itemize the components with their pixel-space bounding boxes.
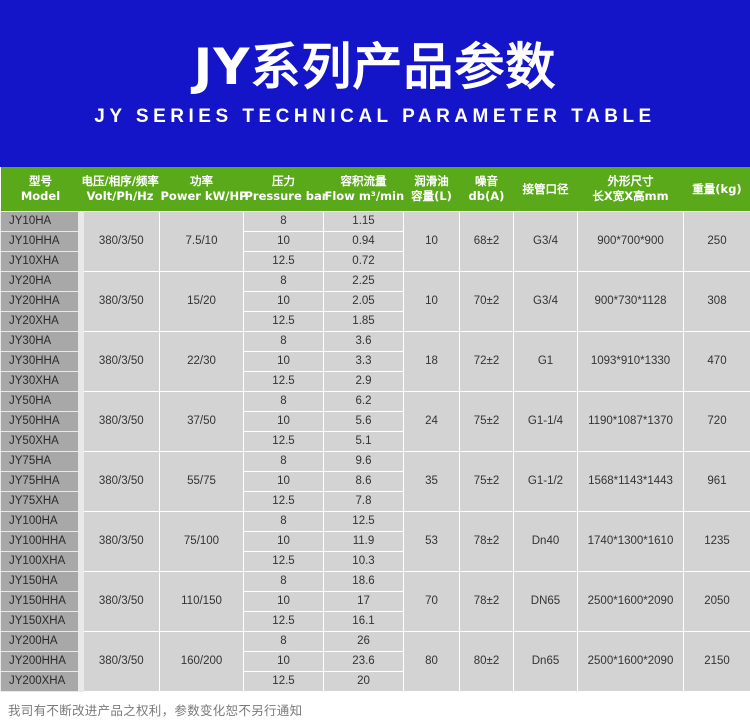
- column-header-power: 功率Power kW/HP: [160, 167, 244, 212]
- cell-model: JY50XHA: [1, 432, 81, 452]
- column-header-oil: 润滑油容量(L): [404, 167, 460, 212]
- cell-noise: 70±2: [460, 272, 514, 332]
- column-header-cn: 润滑油: [405, 174, 459, 189]
- cell-pressure: 10: [244, 532, 324, 552]
- cell-pressure: 8: [244, 272, 324, 292]
- cell-power: 110/150: [160, 572, 244, 632]
- cell-volt: 380/3/50: [81, 272, 160, 332]
- cell-noise: 75±2: [460, 392, 514, 452]
- column-header-en: db(A): [461, 189, 513, 204]
- cell-flow: 3.3: [324, 352, 404, 372]
- cell-dim: 2500*1600*2090: [578, 572, 684, 632]
- cell-noise: 68±2: [460, 212, 514, 272]
- cell-dim: 900*700*900: [578, 212, 684, 272]
- header-row: 型号Model电压/相序/频率Volt/Ph/Hz功率Power kW/HP压力…: [1, 167, 750, 212]
- cell-pressure: 12.5: [244, 552, 324, 572]
- table-row: JY10HA380/3/507.5/1081.151068±2G3/4900*7…: [1, 212, 750, 232]
- cell-pressure: 10: [244, 232, 324, 252]
- cell-pressure: 10: [244, 352, 324, 372]
- cell-pressure: 10: [244, 412, 324, 432]
- cell-flow: 2.05: [324, 292, 404, 312]
- cell-flow: 17: [324, 592, 404, 612]
- cell-noise: 75±2: [460, 452, 514, 512]
- cell-pipe: G1-1/4: [514, 392, 578, 452]
- cell-weight: 2150: [684, 632, 750, 692]
- cell-model: JY150HA: [1, 572, 81, 592]
- cell-flow: 16.1: [324, 612, 404, 632]
- cell-pressure: 10: [244, 292, 324, 312]
- column-header-cn: 型号: [2, 174, 80, 189]
- table-row: JY30HA380/3/5022/3083.61872±2G11093*910*…: [1, 332, 750, 352]
- cell-power: 15/20: [160, 272, 244, 332]
- cell-model: JY10XHA: [1, 252, 81, 272]
- column-header-en: Pressure bar: [245, 189, 323, 204]
- column-header-cn: 接管口径: [515, 182, 577, 197]
- cell-flow: 1.85: [324, 312, 404, 332]
- cell-flow: 1.15: [324, 212, 404, 232]
- cell-noise: 78±2: [460, 512, 514, 572]
- cell-oil: 10: [404, 212, 460, 272]
- column-header-en: 容量(L): [405, 189, 459, 204]
- cell-volt: 380/3/50: [81, 632, 160, 692]
- cell-weight: 308: [684, 272, 750, 332]
- table-row: JY100HA380/3/5075/100812.55378±2Dn401740…: [1, 512, 750, 532]
- column-header-en: Flow m³/min: [325, 189, 403, 204]
- cell-flow: 0.72: [324, 252, 404, 272]
- cell-pressure: 12.5: [244, 432, 324, 452]
- cell-model: JY100HHA: [1, 532, 81, 552]
- cell-pressure: 8: [244, 452, 324, 472]
- table-head: 型号Model电压/相序/频率Volt/Ph/Hz功率Power kW/HP压力…: [1, 167, 750, 212]
- table-row: JY20HA380/3/5015/2082.251070±2G3/4900*73…: [1, 272, 750, 292]
- cell-noise: 80±2: [460, 632, 514, 692]
- column-header-cn: 电压/相序/频率: [82, 174, 159, 189]
- cell-dim: 1190*1087*1370: [578, 392, 684, 452]
- table-row: JY150HA380/3/50110/150818.67078±2DN65250…: [1, 572, 750, 592]
- table-body: JY10HA380/3/507.5/1081.151068±2G3/4900*7…: [1, 212, 750, 692]
- cell-noise: 78±2: [460, 572, 514, 632]
- cell-volt: 380/3/50: [81, 332, 160, 392]
- cell-flow: 0.94: [324, 232, 404, 252]
- cell-oil: 18: [404, 332, 460, 392]
- cell-pressure: 12.5: [244, 612, 324, 632]
- table-row: JY75HA380/3/5055/7589.63575±2G1-1/21568*…: [1, 452, 750, 472]
- table-row: JY200HA380/3/50160/2008268080±2Dn652500*…: [1, 632, 750, 652]
- cell-pressure: 8: [244, 332, 324, 352]
- cell-flow: 5.6: [324, 412, 404, 432]
- cell-power: 75/100: [160, 512, 244, 572]
- cell-weight: 720: [684, 392, 750, 452]
- cell-flow: 10.3: [324, 552, 404, 572]
- cell-model: JY100XHA: [1, 552, 81, 572]
- page-root: JY系列产品参数 JY SERIES TECHNICAL PARAMETER T…: [0, 0, 750, 720]
- cell-flow: 3.6: [324, 332, 404, 352]
- banner-subtitle: JY SERIES TECHNICAL PARAMETER TABLE: [0, 106, 750, 128]
- cell-volt: 380/3/50: [81, 452, 160, 512]
- cell-model: JY150XHA: [1, 612, 81, 632]
- cell-power: 22/30: [160, 332, 244, 392]
- cell-oil: 70: [404, 572, 460, 632]
- cell-weight: 2050: [684, 572, 750, 632]
- cell-oil: 35: [404, 452, 460, 512]
- cell-pressure: 8: [244, 392, 324, 412]
- parameter-table: 型号Model电压/相序/频率Volt/Ph/Hz功率Power kW/HP压力…: [0, 167, 750, 692]
- cell-pipe: G1: [514, 332, 578, 392]
- cell-volt: 380/3/50: [81, 512, 160, 572]
- cell-flow: 18.6: [324, 572, 404, 592]
- cell-pressure: 8: [244, 212, 324, 232]
- cell-dim: 1568*1143*1443: [578, 452, 684, 512]
- parameter-table-container: 型号Model电压/相序/频率Volt/Ph/Hz功率Power kW/HP压力…: [0, 167, 750, 692]
- cell-model: JY20HA: [1, 272, 81, 292]
- cell-model: JY10HHA: [1, 232, 81, 252]
- cell-model: JY75HHA: [1, 472, 81, 492]
- cell-flow: 6.2: [324, 392, 404, 412]
- cell-volt: 380/3/50: [81, 572, 160, 632]
- cell-model: JY75HA: [1, 452, 81, 472]
- cell-pipe: DN65: [514, 572, 578, 632]
- cell-pressure: 12.5: [244, 372, 324, 392]
- cell-weight: 961: [684, 452, 750, 512]
- column-header-dim: 外形尺寸长X宽X高mm: [578, 167, 684, 212]
- column-header-cn: 重量(kg): [685, 182, 750, 197]
- cell-volt: 380/3/50: [81, 212, 160, 272]
- cell-dim: 1740*1300*1610: [578, 512, 684, 572]
- cell-pressure: 8: [244, 572, 324, 592]
- cell-model: JY50HHA: [1, 412, 81, 432]
- column-header-en: 长X宽X高mm: [579, 189, 683, 204]
- cell-weight: 250: [684, 212, 750, 272]
- cell-model: JY30XHA: [1, 372, 81, 392]
- cell-dim: 1093*910*1330: [578, 332, 684, 392]
- table-row: JY50HA380/3/5037/5086.22475±2G1-1/41190*…: [1, 392, 750, 412]
- cell-weight: 470: [684, 332, 750, 392]
- cell-flow: 5.1: [324, 432, 404, 452]
- cell-power: 7.5/10: [160, 212, 244, 272]
- cell-pressure: 8: [244, 512, 324, 532]
- cell-flow: 9.6: [324, 452, 404, 472]
- cell-flow: 20: [324, 672, 404, 692]
- cell-flow: 11.9: [324, 532, 404, 552]
- column-header-cn: 外形尺寸: [579, 174, 683, 189]
- cell-pressure: 10: [244, 472, 324, 492]
- cell-weight: 1235: [684, 512, 750, 572]
- cell-noise: 72±2: [460, 332, 514, 392]
- cell-flow: 8.6: [324, 472, 404, 492]
- footer-note: 我司有不断改进产品之权利，参数变化恕不另行通知: [0, 692, 750, 720]
- cell-model: JY150HHA: [1, 592, 81, 612]
- cell-pressure: 12.5: [244, 492, 324, 512]
- cell-model: JY30HA: [1, 332, 81, 352]
- cell-oil: 24: [404, 392, 460, 452]
- cell-model: JY20XHA: [1, 312, 81, 332]
- cell-power: 160/200: [160, 632, 244, 692]
- cell-model: JY50HA: [1, 392, 81, 412]
- cell-pipe: G1-1/2: [514, 452, 578, 512]
- cell-model: JY100HA: [1, 512, 81, 532]
- column-header-press: 压力Pressure bar: [244, 167, 324, 212]
- column-header-cn: 噪音: [461, 174, 513, 189]
- cell-pressure: 12.5: [244, 312, 324, 332]
- cell-dim: 2500*1600*2090: [578, 632, 684, 692]
- column-header-en: Volt/Ph/Hz: [82, 189, 159, 204]
- column-header-flow: 容积流量Flow m³/min: [324, 167, 404, 212]
- column-header-cn: 功率: [161, 174, 243, 189]
- column-header-en: Power kW/HP: [161, 189, 243, 204]
- column-header-noise: 噪音db(A): [460, 167, 514, 212]
- banner-title: JY系列产品参数: [0, 38, 750, 96]
- cell-pressure: 12.5: [244, 672, 324, 692]
- cell-flow: 7.8: [324, 492, 404, 512]
- cell-dim: 900*730*1128: [578, 272, 684, 332]
- cell-model: JY10HA: [1, 212, 81, 232]
- cell-pipe: G3/4: [514, 272, 578, 332]
- cell-flow: 26: [324, 632, 404, 652]
- cell-pipe: G3/4: [514, 212, 578, 272]
- column-header-cn: 容积流量: [325, 174, 403, 189]
- cell-pressure: 10: [244, 592, 324, 612]
- cell-model: JY200XHA: [1, 672, 81, 692]
- cell-flow: 2.9: [324, 372, 404, 392]
- cell-model: JY75XHA: [1, 492, 81, 512]
- cell-pipe: Dn65: [514, 632, 578, 692]
- cell-flow: 12.5: [324, 512, 404, 532]
- column-header-en: Model: [2, 189, 80, 204]
- cell-pipe: Dn40: [514, 512, 578, 572]
- cell-model: JY200HA: [1, 632, 81, 652]
- column-header-model: 型号Model: [1, 167, 81, 212]
- cell-model: JY200HHA: [1, 652, 81, 672]
- cell-pressure: 12.5: [244, 252, 324, 272]
- column-header-cn: 压力: [245, 174, 323, 189]
- cell-oil: 10: [404, 272, 460, 332]
- banner: JY系列产品参数 JY SERIES TECHNICAL PARAMETER T…: [0, 0, 750, 167]
- cell-flow: 23.6: [324, 652, 404, 672]
- cell-oil: 53: [404, 512, 460, 572]
- cell-pressure: 10: [244, 652, 324, 672]
- column-header-pipe: 接管口径: [514, 167, 578, 212]
- cell-pressure: 8: [244, 632, 324, 652]
- cell-model: JY20HHA: [1, 292, 81, 312]
- cell-power: 37/50: [160, 392, 244, 452]
- column-header-volt: 电压/相序/频率Volt/Ph/Hz: [81, 167, 160, 212]
- cell-oil: 80: [404, 632, 460, 692]
- cell-model: JY30HHA: [1, 352, 81, 372]
- cell-flow: 2.25: [324, 272, 404, 292]
- column-header-weight: 重量(kg): [684, 167, 750, 212]
- cell-power: 55/75: [160, 452, 244, 512]
- cell-volt: 380/3/50: [81, 392, 160, 452]
